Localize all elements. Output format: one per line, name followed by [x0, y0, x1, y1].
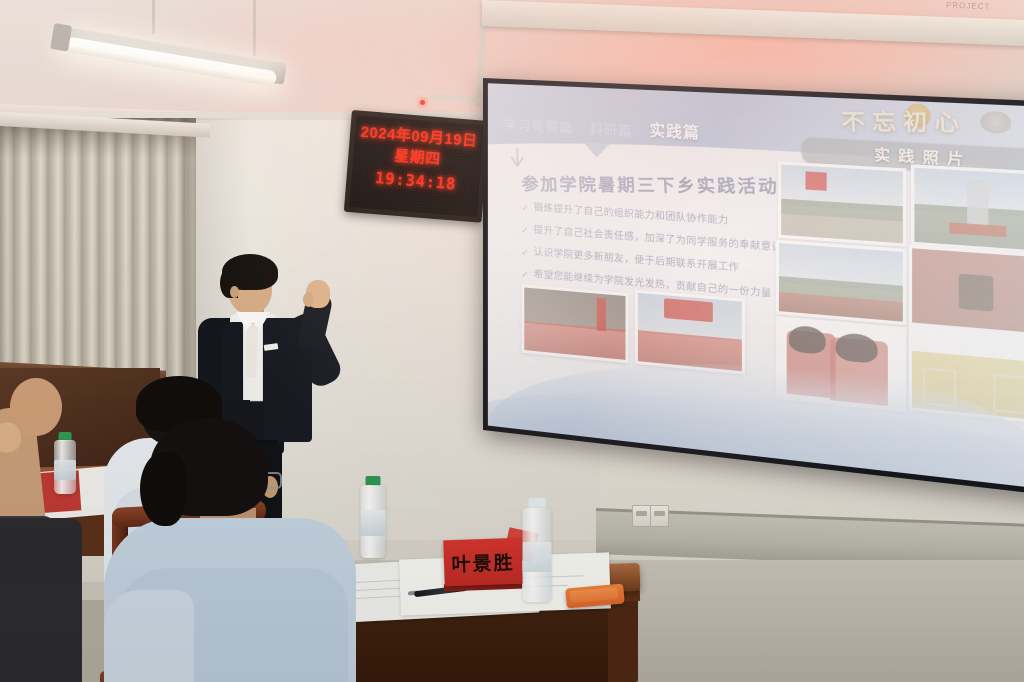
- presenter-thumb: [303, 292, 314, 307]
- slide-photo-left-2: [635, 290, 745, 375]
- slide-tab-practice[interactable]: 实践篇: [649, 119, 700, 143]
- audience-left-head: [10, 378, 62, 436]
- slide-photo-right-2: [911, 164, 1024, 254]
- outlet-slot-icon: [654, 511, 665, 516]
- presentation-slide: 学习竞赛篇 科研篇 实践篇 不忘初心 实践照片 参加学院暑期三下乡实践活动: [488, 83, 1024, 492]
- flag-icon: [805, 172, 827, 192]
- photo-content: [638, 293, 742, 371]
- lamp-suspension-rod-right: [253, 0, 256, 56]
- check-icon: ✓: [521, 246, 528, 259]
- classroom-scene: 2024年09月19日 星期四 19:34:18 PROJECT 学习竞赛篇 科…: [0, 0, 1024, 682]
- presenter-ear: [230, 286, 239, 298]
- slide-photo-right-4: [909, 245, 1024, 338]
- check-icon: ✓: [521, 202, 528, 215]
- led-clock-board: 2024年09月19日 星期四 19:34:18: [344, 110, 490, 223]
- presenter-tie: [245, 324, 258, 378]
- slide-photo-right-1: [778, 161, 906, 246]
- projection-screen[interactable]: 学习竞赛篇 科研篇 实践篇 不忘初心 实践照片 参加学院暑期三下乡实践活动: [483, 78, 1024, 498]
- slide-photo-left-1: [521, 284, 628, 363]
- person-silhouette: [959, 274, 994, 311]
- slide-photo-right-3: [776, 240, 907, 325]
- photo-content: [779, 243, 903, 321]
- slide-tab-study[interactable]: 学习竞赛篇: [504, 114, 574, 137]
- photo-content: [914, 168, 1024, 251]
- water-bottle-front: [520, 498, 554, 602]
- slide-title: 参加学院暑期三下乡实践活动: [521, 170, 780, 198]
- name-card: 叶景胜: [443, 538, 523, 587]
- photo-content: [524, 287, 625, 359]
- wall-outlet-right[interactable]: [650, 505, 669, 527]
- lamp-suspension-rod-left: [152, 0, 155, 34]
- led-power-indicator: [420, 100, 425, 105]
- hair-left: [789, 325, 826, 354]
- booth-frame-right: [994, 374, 1024, 415]
- audience-member-front: [96, 418, 366, 682]
- check-icon: ✓: [521, 224, 528, 237]
- monument-icon: [968, 180, 988, 226]
- electrical-conduit: [639, 480, 643, 508]
- slide-banner-text: 不忘初心: [841, 105, 967, 138]
- audience-front-sleeve: [104, 590, 194, 682]
- outlet-slot-icon: [636, 511, 647, 516]
- slide-tab-research[interactable]: 科研篇: [590, 118, 633, 140]
- photo-content: [912, 248, 1024, 333]
- name-card-text: 叶景胜: [451, 547, 515, 576]
- bottle-label: [523, 542, 552, 572]
- photo-content: [781, 165, 903, 244]
- down-arrow-icon: [509, 146, 525, 169]
- audience-left-body: [0, 518, 82, 682]
- audience-front-hair-side: [140, 452, 186, 526]
- front-desk-leg: [608, 595, 638, 682]
- projection-screen-surface: 学习竞赛篇 科研篇 实践篇 不忘初心 实践照片 参加学院暑期三下乡实践活动: [488, 83, 1024, 492]
- flag-icon: [597, 297, 606, 331]
- check-icon: ✓: [521, 268, 528, 281]
- wall-outlet-left[interactable]: [632, 505, 651, 527]
